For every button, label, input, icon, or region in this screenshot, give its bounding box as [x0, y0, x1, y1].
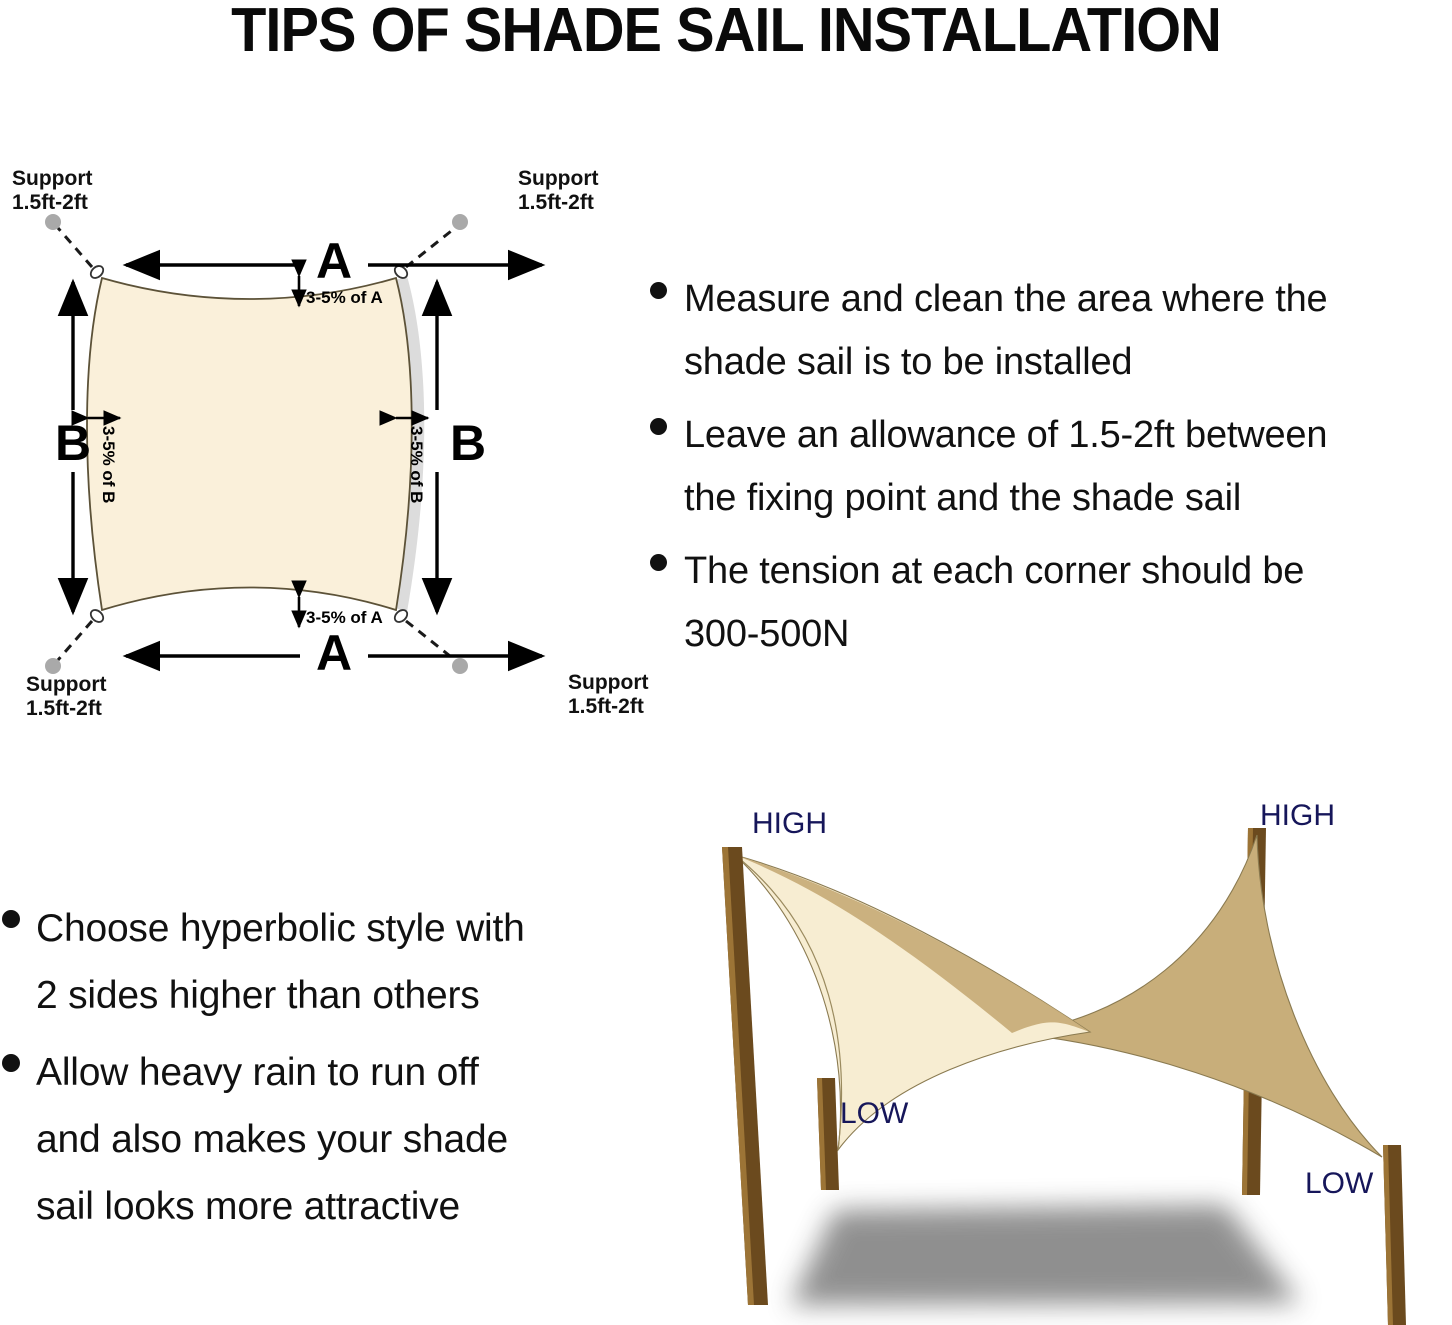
list-item: Leave an allowance of 1.5-2ft betweenthe…: [650, 404, 1452, 530]
dim-label-B-right: B: [450, 415, 486, 471]
bullet-icon: [650, 282, 667, 299]
label-high-left: HIGH: [752, 807, 827, 840]
hyperbolic-shade-sail-illustration: HIGH HIGH LOW LOW: [660, 785, 1452, 1325]
support-line-top-left: [58, 228, 92, 267]
dim-label-curve-right: 3-5% of B: [407, 426, 426, 503]
shade-sail-measurement-diagram: Support 1.5ft-2ft Support 1.5ft-2ft Supp…: [0, 160, 660, 740]
support-line-top-right: [406, 228, 455, 267]
bullet-icon: [650, 418, 667, 435]
list-item: Choose hyperbolic style with2 sides high…: [2, 895, 642, 1029]
tip-text: Measure and clean the area where theshad…: [684, 268, 1327, 394]
rect-sail-shape: [87, 278, 412, 610]
style-tip-text: Allow heavy rain to run offand also make…: [36, 1039, 508, 1240]
support-label-top-right-line2: 1.5ft-2ft: [518, 191, 594, 214]
support-dot-top-right: [452, 214, 468, 230]
dim-label-curve-bottom: 3-5% of A: [306, 608, 383, 627]
page-title: TIPS OF SHADE SAIL INSTALLATION: [51, 0, 1401, 66]
dim-label-B-left: B: [55, 415, 91, 471]
support-label-bottom-left-line1: Support: [26, 673, 106, 696]
support-label-top-left-line2: 1.5ft-2ft: [12, 191, 88, 214]
list-item: The tension at each corner should be300-…: [650, 540, 1452, 666]
ground-shadow: [790, 1205, 1300, 1305]
post-low-right: [1383, 1145, 1406, 1325]
tip-text: Leave an allowance of 1.5-2ft betweenthe…: [684, 404, 1327, 530]
support-dot-bottom-right: [452, 658, 468, 674]
support-label-bottom-left-line2: 1.5ft-2ft: [26, 697, 102, 720]
sail-panel-tan: [1012, 835, 1382, 1157]
dim-label-A-bottom: A: [316, 625, 352, 681]
bullet-icon: [2, 910, 20, 928]
bullet-icon: [650, 554, 667, 571]
list-item: Allow heavy rain to run offand also make…: [2, 1039, 642, 1240]
bullet-icon: [2, 1054, 20, 1072]
style-tips-list: Choose hyperbolic style with2 sides high…: [2, 895, 642, 1250]
support-label-top-left-line1: Support: [12, 167, 92, 190]
post-high-left: [722, 847, 768, 1305]
tip-text: The tension at each corner should be300-…: [684, 540, 1304, 666]
support-label-bottom-right-line1: Support: [568, 671, 648, 694]
label-low-right: LOW: [1305, 1167, 1374, 1200]
support-dot-bottom-left: [45, 658, 61, 674]
dim-label-curve-top: 3-5% of A: [306, 288, 383, 307]
dim-label-curve-left: 3-5% of B: [99, 426, 118, 503]
installation-tips-list: Measure and clean the area where theshad…: [650, 268, 1452, 676]
label-low-left: LOW: [840, 1097, 909, 1130]
support-line-bottom-left: [58, 621, 92, 660]
support-dot-top-left: [45, 214, 61, 230]
support-label-bottom-right-line2: 1.5ft-2ft: [568, 695, 644, 718]
support-label-top-right-line1: Support: [518, 167, 598, 190]
style-tip-text: Choose hyperbolic style with2 sides high…: [36, 895, 525, 1029]
list-item: Measure and clean the area where theshad…: [650, 268, 1452, 394]
dim-label-A-top: A: [316, 233, 352, 289]
label-high-right: HIGH: [1260, 799, 1335, 832]
post-low-left: [817, 1078, 839, 1190]
support-line-bottom-right: [406, 621, 455, 660]
